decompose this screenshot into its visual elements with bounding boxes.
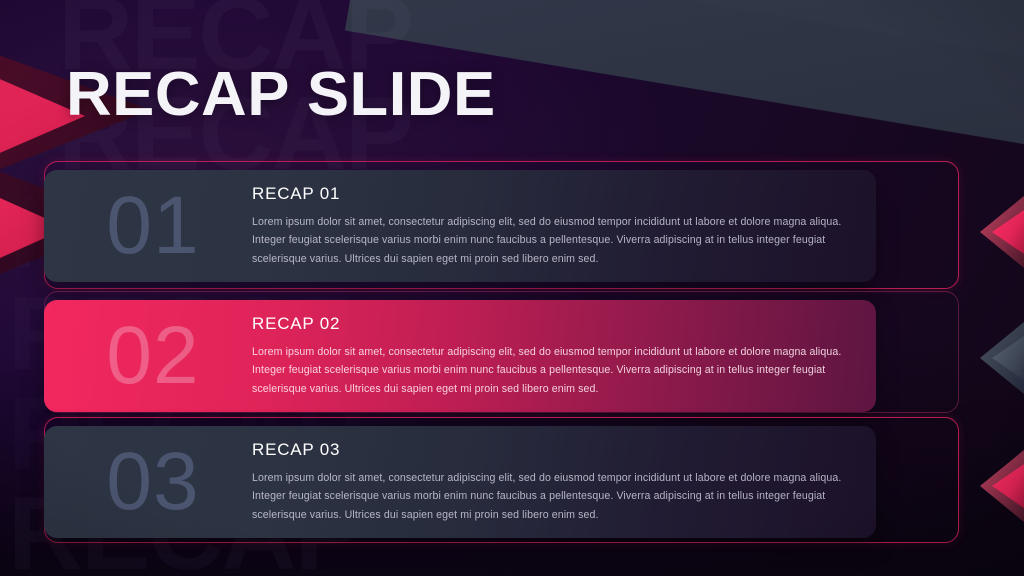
recap-card-03[interactable]: 03 RECAP 03 Lorem ipsum dolor sit amet, … [44,417,959,543]
card-surface[interactable]: 01 RECAP 01 Lorem ipsum dolor sit amet, … [44,170,876,282]
card-number: 02 [44,315,252,397]
card-description: Lorem ipsum dolor sit amet, consectetur … [252,343,850,398]
card-number: 03 [44,441,252,523]
recap-card-02[interactable]: 02 RECAP 02 Lorem ipsum dolor sit amet, … [44,291,959,413]
card-surface[interactable]: 02 RECAP 02 Lorem ipsum dolor sit amet, … [44,300,876,412]
card-heading: RECAP 02 [252,314,850,334]
card-description: Lorem ipsum dolor sit amet, consectetur … [252,213,850,268]
card-body: RECAP 02 Lorem ipsum dolor sit amet, con… [252,314,876,398]
card-body: RECAP 03 Lorem ipsum dolor sit amet, con… [252,440,876,524]
card-heading: RECAP 01 [252,184,850,204]
card-number: 01 [44,185,252,267]
recap-slide: RECAP RECAP RECAP RECAP RECAP RECAP RECA… [0,0,1024,576]
card-heading: RECAP 03 [252,440,850,460]
recap-card-list: 01 RECAP 01 Lorem ipsum dolor sit amet, … [0,0,1024,576]
card-body: RECAP 01 Lorem ipsum dolor sit amet, con… [252,184,876,268]
card-description: Lorem ipsum dolor sit amet, consectetur … [252,469,850,524]
recap-card-01[interactable]: 01 RECAP 01 Lorem ipsum dolor sit amet, … [44,161,959,289]
card-surface[interactable]: 03 RECAP 03 Lorem ipsum dolor sit amet, … [44,426,876,538]
